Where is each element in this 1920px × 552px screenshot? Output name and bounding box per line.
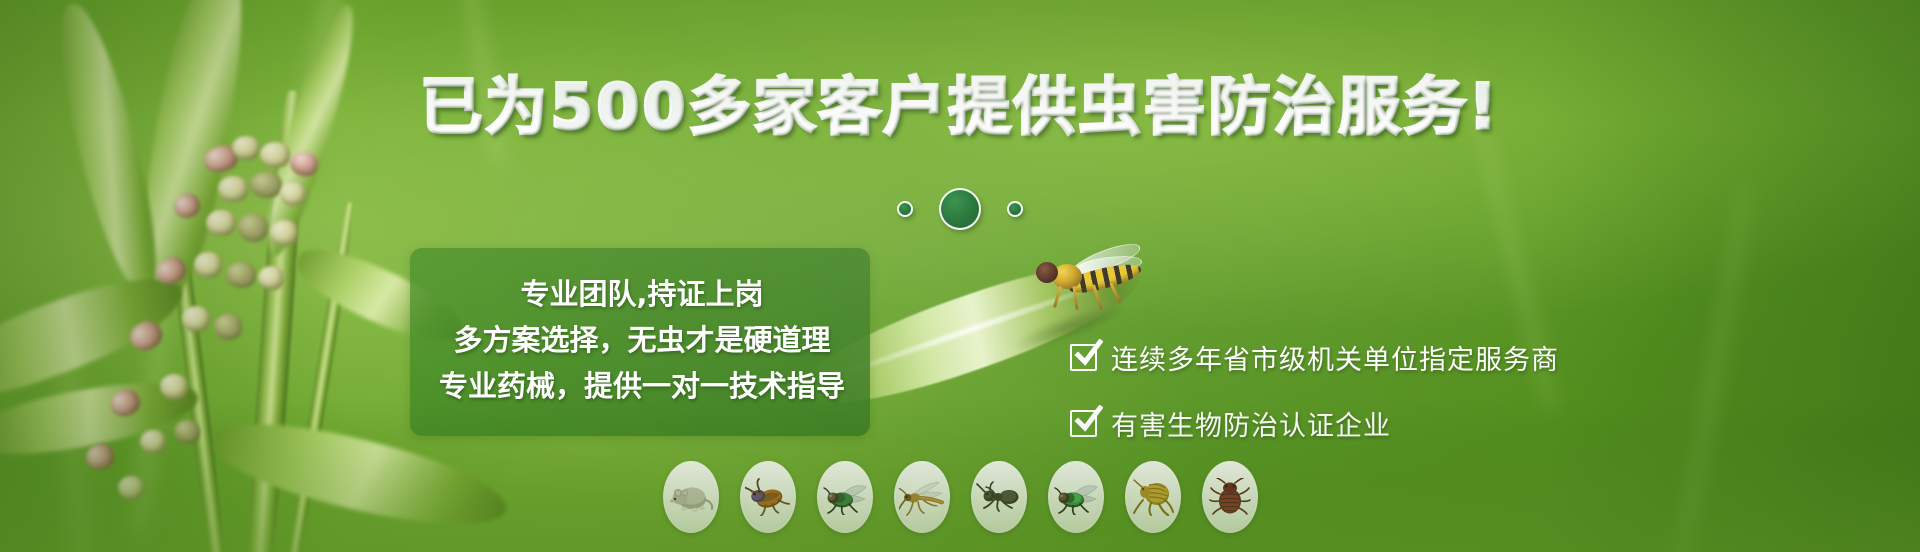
background-vignette (0, 0, 1920, 552)
pest-control-hero-banner: 已为500多家客户提供虫害防治服务! 专业团队,持证上岗 多方案选择，无虫才是硬… (0, 0, 1920, 552)
